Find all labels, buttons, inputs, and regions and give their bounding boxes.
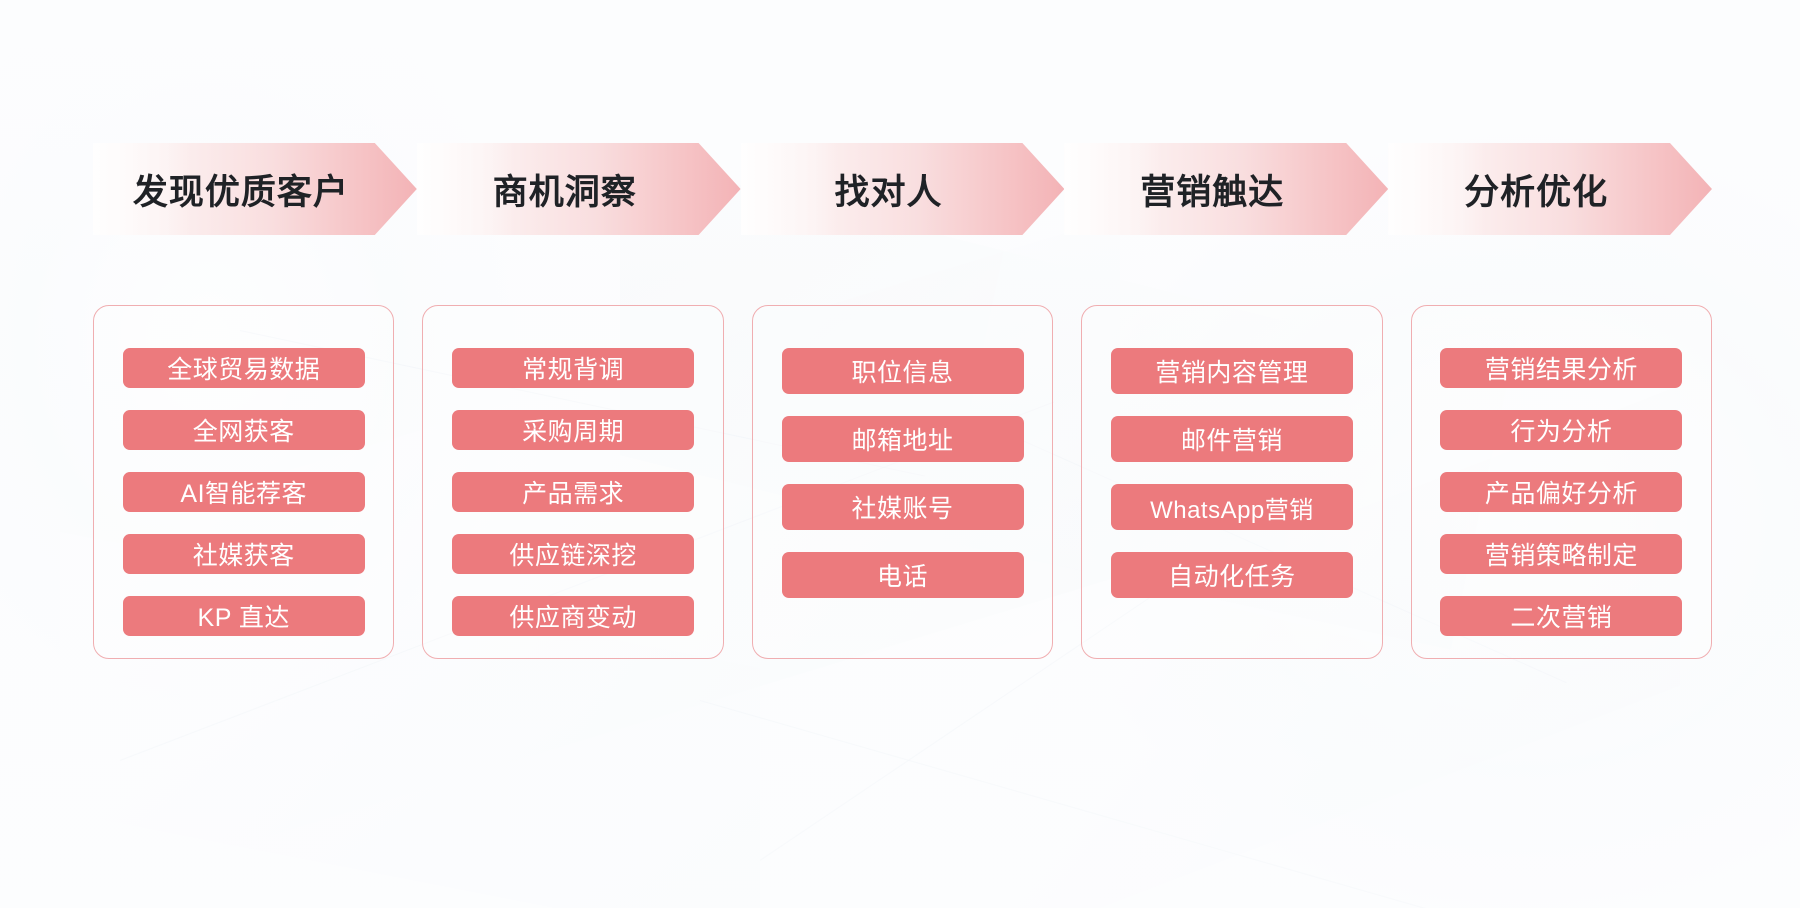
feature-pill[interactable]: 社媒账号	[782, 484, 1024, 530]
feature-pill[interactable]: 全网获客	[123, 410, 365, 450]
stage-banner-4[interactable]: 营销触达	[1064, 143, 1388, 235]
stage-banner-5[interactable]: 分析优化	[1388, 143, 1712, 235]
feature-pill[interactable]: 营销策略制定	[1440, 534, 1682, 574]
stage-banner-2[interactable]: 商机洞察	[417, 143, 741, 235]
feature-pill[interactable]: 营销内容管理	[1111, 348, 1353, 394]
stage-banner-label: 营销触达	[1140, 164, 1284, 215]
feature-pill[interactable]: 自动化任务	[1111, 552, 1353, 598]
feature-pill[interactable]: 产品偏好分析	[1440, 472, 1682, 512]
feature-pill[interactable]: 供应链深挖	[452, 534, 694, 574]
feature-pill[interactable]: 邮箱地址	[782, 416, 1024, 462]
feature-pill[interactable]: 社媒获客	[123, 534, 365, 574]
feature-pill[interactable]: 常规背调	[452, 348, 694, 388]
feature-pill[interactable]: WhatsApp营销	[1111, 484, 1353, 530]
process-flow-diagram: 发现优质客户 商机洞察 找对人 营销触达 分析优化 全球贸易数据 全网获客 AI…	[0, 0, 1800, 908]
feature-pill[interactable]: 二次营销	[1440, 596, 1682, 636]
feature-pill[interactable]: KP 直达	[123, 596, 365, 636]
feature-pill[interactable]: 采购周期	[452, 410, 694, 450]
feature-pill[interactable]: 职位信息	[782, 348, 1024, 394]
stage-banner-label: 发现优质客户	[133, 164, 349, 215]
feature-pill[interactable]: AI智能荐客	[123, 472, 365, 512]
feature-pill[interactable]: 电话	[782, 552, 1024, 598]
stage-banner-1[interactable]: 发现优质客户	[93, 143, 417, 235]
stage-card-4: 营销内容管理 邮件营销 WhatsApp营销 自动化任务	[1081, 305, 1382, 659]
stage-card-5: 营销结果分析 行为分析 产品偏好分析 营销策略制定 二次营销	[1411, 305, 1712, 659]
stage-banner-label: 分析优化	[1464, 164, 1608, 215]
feature-pill[interactable]: 产品需求	[452, 472, 694, 512]
feature-pill[interactable]: 营销结果分析	[1440, 348, 1682, 388]
stage-banner-row: 发现优质客户 商机洞察 找对人 营销触达 分析优化	[93, 143, 1712, 235]
feature-pill[interactable]: 全球贸易数据	[123, 348, 365, 388]
feature-pill[interactable]: 供应商变动	[452, 596, 694, 636]
stage-card-3: 职位信息 邮箱地址 社媒账号 电话	[752, 305, 1053, 659]
stage-card-2: 常规背调 采购周期 产品需求 供应链深挖 供应商变动	[422, 305, 723, 659]
feature-pill[interactable]: 邮件营销	[1111, 416, 1353, 462]
feature-pill[interactable]: 行为分析	[1440, 410, 1682, 450]
stage-banner-3[interactable]: 找对人	[741, 143, 1065, 235]
stage-cards-row: 全球贸易数据 全网获客 AI智能荐客 社媒获客 KP 直达 常规背调 采购周期 …	[93, 305, 1712, 659]
stage-card-1: 全球贸易数据 全网获客 AI智能荐客 社媒获客 KP 直达	[93, 305, 394, 659]
stage-banner-label: 找对人	[834, 164, 942, 215]
stage-banner-label: 商机洞察	[493, 164, 637, 215]
